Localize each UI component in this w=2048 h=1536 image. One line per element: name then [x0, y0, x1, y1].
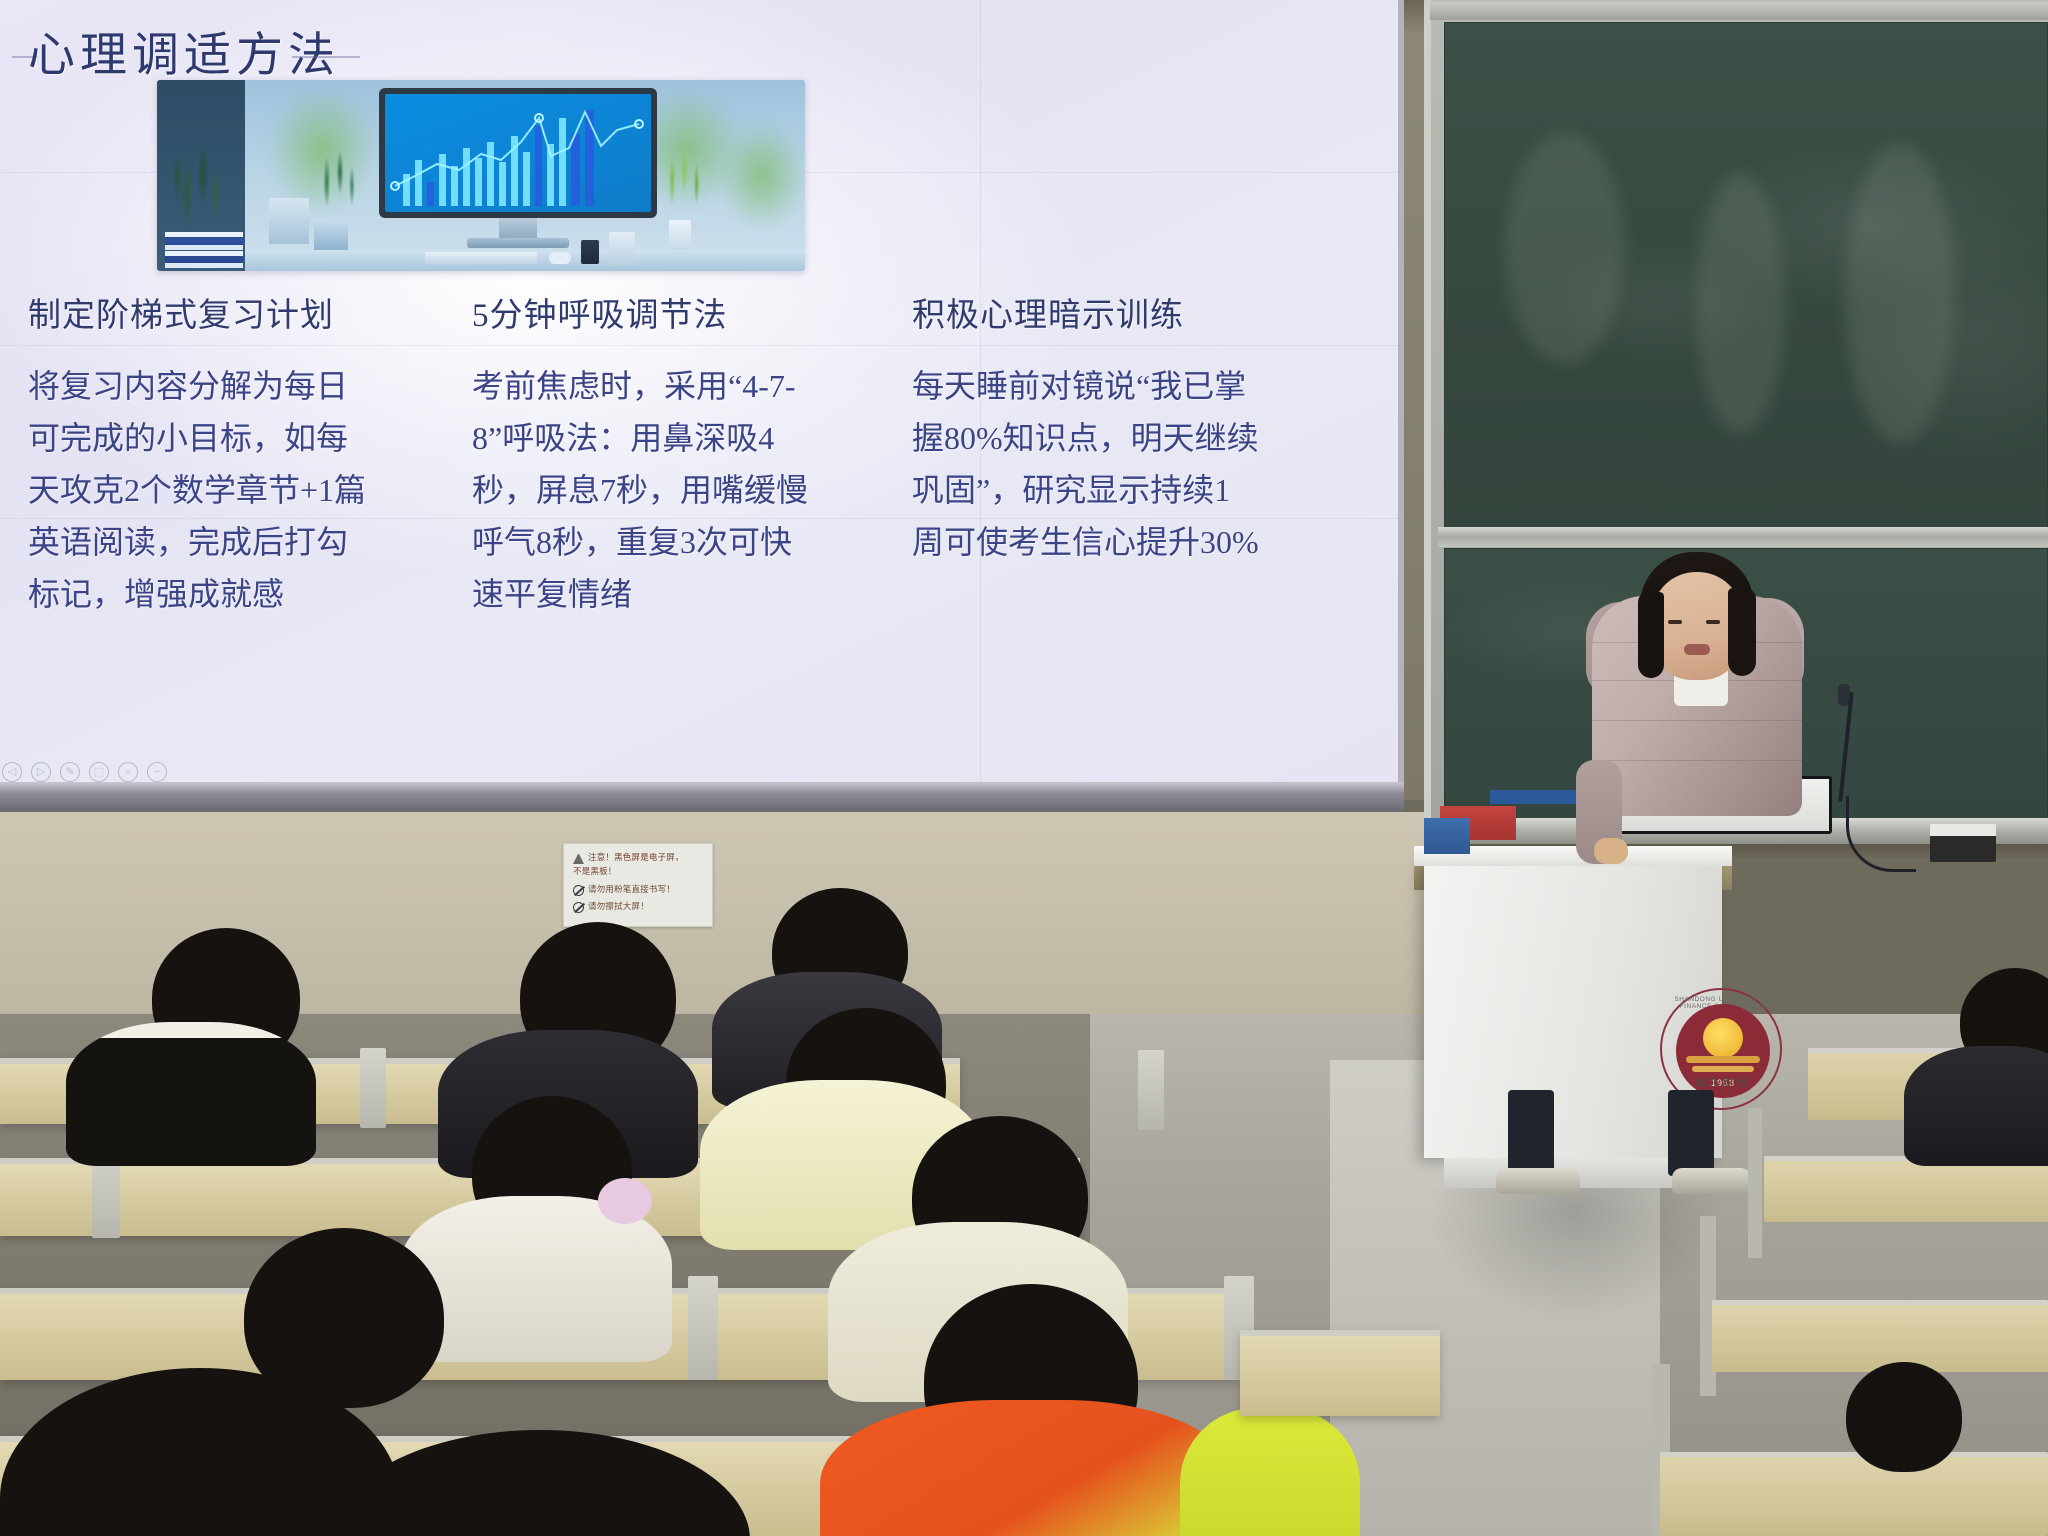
bench-post-2	[1138, 1050, 1164, 1130]
hero-monitor-icon	[379, 88, 657, 218]
hero-monitor-foot	[467, 238, 569, 248]
right-student-head-2	[1846, 1362, 1962, 1472]
sign-warning-line-1: 注意！黑色屏是电子屏，	[588, 852, 684, 863]
hero-pot-middle	[314, 220, 348, 250]
sign-warning-line-2: 不是黑板！	[573, 866, 703, 877]
hero-light-cup	[609, 232, 635, 266]
column-1-heading: 制定阶梯式复习计划	[28, 288, 378, 336]
speaker-hair-left	[1638, 592, 1664, 678]
emblem-wave-2	[1692, 1066, 1754, 1072]
hero-plant-right-icon	[649, 128, 717, 228]
hero-book-stack-bottom	[165, 251, 243, 268]
hero-monitor-neck	[499, 218, 537, 240]
hero-mouse-icon	[549, 252, 571, 264]
minimize-icon[interactable]: −	[147, 762, 167, 782]
chalkboard-top-rail	[1430, 2, 2048, 20]
slide-column-3: 积极心理暗示训练 每天睡前对镜说“我已掌握80%知识点，明天继续巩固”，研究显示…	[912, 288, 1262, 568]
play-slide-icon[interactable]: ▷	[31, 762, 51, 782]
podium-shadow	[1430, 1188, 1720, 1318]
sign-rule-1: 请勿用粉笔直接书写！	[588, 884, 675, 895]
sign-rule-2: 请勿擦拭大屏！	[588, 901, 649, 912]
hero-stationery	[269, 198, 309, 244]
emblem-wave-1	[1686, 1056, 1760, 1063]
hero-monitor-screen	[385, 94, 651, 212]
speaker-mouth	[1684, 644, 1710, 655]
slide-column-1: 制定阶梯式复习计划 将复习内容分解为每日可完成的小目标，如每天攻克2个数学章节+…	[28, 288, 378, 620]
speaker-leg-right	[1668, 1090, 1714, 1176]
slide-column-2: 5分钟呼吸调节法 考前焦虑时，采用“4-7-8”呼吸法：用鼻深吸4秒，屏息7秒，…	[472, 288, 822, 620]
presentation-slide[interactable]: 心理调适方法	[0, 0, 1398, 786]
chalkboard-upper-panel	[1444, 22, 2048, 530]
hero-pot-right	[669, 220, 691, 254]
column-2-heading: 5分钟呼吸调节法	[472, 288, 822, 336]
column-1-body: 将复习内容分解为每日可完成的小目标，如每天攻克2个数学章节+1篇英语阅读，完成后…	[28, 360, 378, 620]
speaker-hand	[1594, 838, 1628, 864]
speaker-leg-left	[1508, 1090, 1554, 1176]
column-3-body: 每天睡前对镜说“我已掌握80%知识点，明天继续巩固”，研究显示持续1周可使考生信…	[912, 360, 1262, 568]
bench-post-5	[688, 1276, 718, 1380]
slide-title: 心理调适方法	[28, 16, 340, 85]
emblem-chinese-text: 山东财经	[1662, 1074, 1784, 1090]
right-bench-3[interactable]	[1712, 1300, 2048, 1372]
speaker-hair-right	[1728, 588, 1756, 676]
chalk-tray-blue-back	[1490, 790, 1582, 804]
no-writing-icon	[573, 885, 584, 896]
emblem-sun-icon	[1703, 1018, 1743, 1058]
wall-warning-sign: 注意！黑色屏是电子屏， 不是黑板！ 请勿用粉笔直接书写！ 请勿擦拭大屏！	[563, 843, 713, 927]
speaker-shoe-right	[1672, 1168, 1752, 1194]
hero-book-stack-top	[165, 232, 243, 250]
right-bench-4[interactable]	[1660, 1452, 2048, 1536]
speaker-eye-left	[1668, 620, 1682, 624]
hair-scrunchie	[598, 1178, 652, 1224]
slide-columns: 制定阶梯式复习计划 将复习内容分解为每日可完成的小目标，如每天攻克2个数学章节+…	[24, 288, 1374, 758]
column-2-body: 考前焦虑时，采用“4-7-8”呼吸法：用鼻深吸4秒，屏息7秒，用嘴缓慢呼气8秒，…	[472, 360, 822, 620]
right-student-coat	[1904, 1046, 2048, 1166]
hero-dark-cup	[581, 240, 599, 264]
hero-plant-middle-icon	[307, 132, 373, 228]
hero-sparkline-icon	[389, 102, 651, 206]
slide-hero-image	[157, 80, 805, 271]
student-coat-8	[820, 1400, 1240, 1536]
pen-tool-icon[interactable]: ✎	[60, 762, 80, 782]
lecture-hall-photo: 心理调适方法	[0, 0, 2048, 1536]
bench-row-3-right[interactable]	[1240, 1330, 1440, 1416]
bench-post-1	[360, 1048, 386, 1128]
projection-screen[interactable]: 心理调适方法	[0, 0, 1404, 812]
right-bench-leg-1	[1748, 1108, 1762, 1258]
speaker-shoe-left	[1496, 1168, 1580, 1194]
microphone-cable	[1846, 796, 1916, 872]
pointer-tool-icon[interactable]: ⬚	[89, 762, 109, 782]
student-coat-9	[1180, 1408, 1360, 1536]
speaker-eye-right	[1706, 620, 1720, 624]
previous-slide-icon[interactable]: ◁	[2, 762, 22, 782]
presentation-toolbar[interactable]: ◁ ▷ ✎ ⬚ ⌕ −	[2, 762, 167, 782]
zoom-tool-icon[interactable]: ⌕	[118, 762, 138, 782]
chalkboard-divider-rail	[1438, 527, 2048, 547]
screen-bottom-bezel	[0, 782, 1404, 812]
title-rule-right	[292, 56, 360, 58]
board-eraser[interactable]	[1930, 824, 1996, 862]
no-wiping-icon	[573, 902, 584, 913]
warning-triangle-icon	[573, 854, 584, 864]
student-coat-1	[66, 1022, 316, 1166]
column-3-heading: 积极心理暗示训练	[912, 288, 1262, 336]
chalk-box-blue	[1424, 818, 1470, 854]
hero-keyboard-icon	[425, 252, 537, 264]
